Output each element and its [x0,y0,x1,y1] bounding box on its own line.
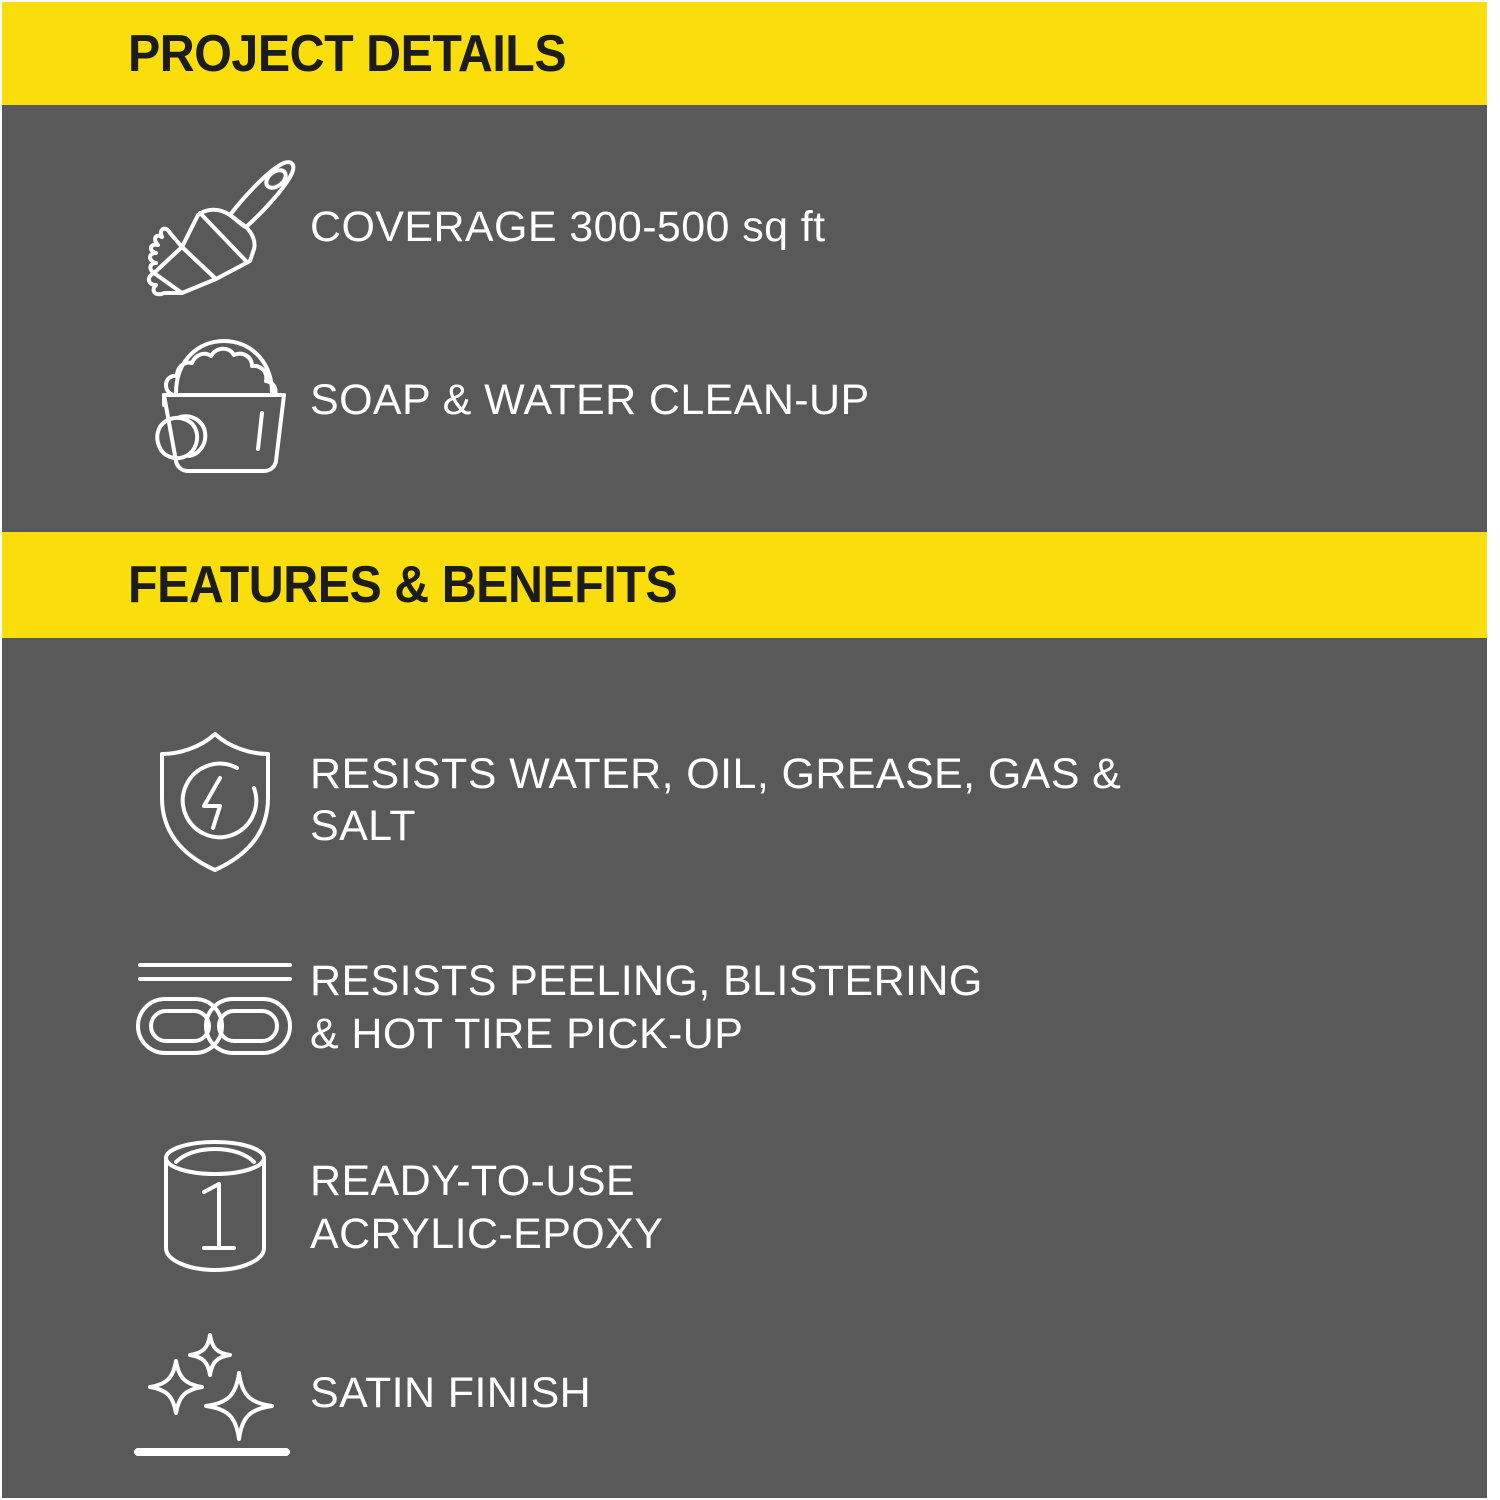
soap-bucket-icon [120,325,310,475]
list-item-label: SOAP & WATER CLEAN-UP [310,374,870,426]
list-item-coverage: COVERAGE 300-500 sq ft [120,135,1250,320]
sparkle-shine-icon [120,1321,310,1466]
list-item-label: COVERAGE 300-500 sq ft [310,201,825,253]
paint-can-one-icon [120,1130,310,1285]
list-item-ready-to-use: READY-TO-USE ACRYLIC-EPOXY [120,1110,1380,1305]
paintbrush-icon [120,143,310,313]
list-item-label: READY-TO-USE ACRYLIC-EPOXY [310,1155,663,1260]
shield-bolt-icon [120,720,310,880]
list-item-cleanup: SOAP & WATER CLEAN-UP [120,320,1250,480]
list-item-label: SATIN FINISH [310,1367,591,1419]
project-details-title: PROJECT DETAILS [128,24,566,84]
features-benefits-header-banner: FEATURES & BENEFITS [2,532,1487,638]
product-infographic: PROJECT DETAILS [0,0,1500,1500]
list-item-label: RESISTS WATER, OIL, GREASE, GAS & SALT [310,748,1121,853]
chain-link-icon [120,943,310,1073]
list-item-resists-peeling: RESISTS PEELING, BLISTERING & HOT TIRE P… [120,910,1380,1105]
list-item-label: RESISTS PEELING, BLISTERING & HOT TIRE P… [310,955,983,1060]
features-benefits-section: RESISTS WATER, OIL, GREASE, GAS & SALT R… [2,638,1487,1498]
list-item-satin-finish: SATIN FINISH [120,1306,1380,1481]
project-details-header-banner: PROJECT DETAILS [2,2,1487,105]
list-item-resists-liquids: RESISTS WATER, OIL, GREASE, GAS & SALT [120,700,1380,900]
project-details-section: COVERAGE 300-500 sq ft [2,105,1487,532]
features-benefits-title: FEATURES & BENEFITS [128,555,677,615]
